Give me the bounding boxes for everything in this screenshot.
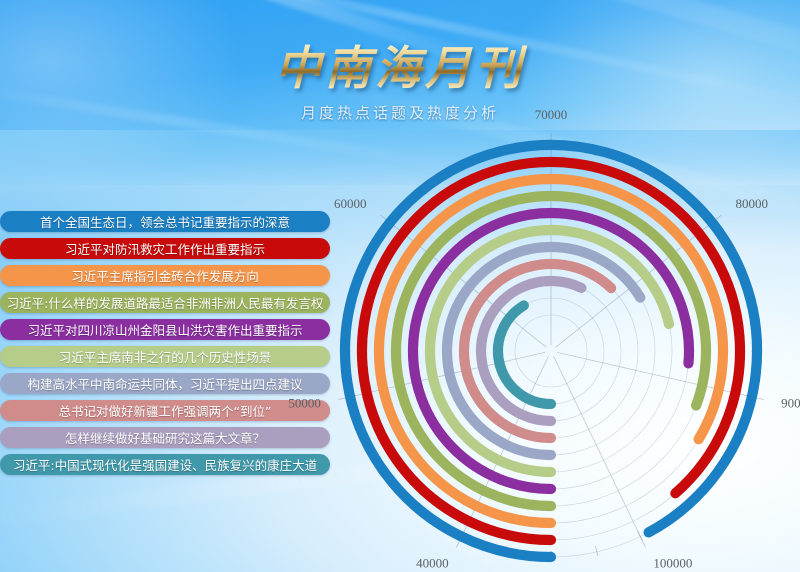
polar-minor-tick bbox=[596, 546, 598, 556]
poster-canvas: 中南海月刊 月度热点话题及热度分析 首个全国生态日，领会总书记重要指示的深意习近… bbox=[0, 0, 800, 572]
legend-item[interactable]: 习近平主席南非之行的几个历史性场景 bbox=[0, 346, 330, 367]
legend-item-label: 习近平:中国式现代化是强国建设、民族复兴的康庄大道 bbox=[13, 455, 317, 474]
legend-item-label: 习近平主席南非之行的几个历史性场景 bbox=[59, 347, 272, 366]
radial-bar-chart-svg: 400005000060000700008000090000100000 bbox=[286, 80, 800, 572]
legend-item-label: 习近平:什么样的发展道路最适合非洲非洲人民最有发言权 bbox=[7, 293, 324, 312]
legend-item[interactable]: 首个全国生态日，领会总书记重要指示的深意 bbox=[0, 211, 330, 232]
legend-item[interactable]: 习近平:什么样的发展道路最适合非洲非洲人民最有发言权 bbox=[0, 292, 330, 313]
legend-item-label: 习近平主席指引金砖合作发展方向 bbox=[71, 266, 259, 285]
angular-axis-tick-label: 50000 bbox=[288, 396, 321, 411]
legend-item[interactable]: 怎样继续做好基础研究这篇大文章？ bbox=[0, 427, 330, 448]
legend-item[interactable]: 习近平主席指引金砖合作发展方向 bbox=[0, 265, 330, 286]
legend-item-label: 首个全国生态日，领会总书记重要指示的深意 bbox=[40, 212, 290, 231]
legend-item[interactable]: 总书记对做好新疆工作强调两个“到位” bbox=[0, 400, 330, 421]
angular-axis-tick-label: 60000 bbox=[334, 196, 367, 211]
angular-axis-tick-label: 80000 bbox=[736, 196, 769, 211]
polar-grid-spoke bbox=[554, 356, 646, 547]
legend-item-label: 习近平对四川凉山州金阳县山洪灾害作出重要指示 bbox=[27, 320, 302, 339]
legend-item-label: 构建高水平中南命运共同体，习近平提出四点建议 bbox=[27, 374, 302, 393]
radial-bar-chart: 400005000060000700008000090000100000 bbox=[286, 80, 800, 572]
legend-item-label: 怎样继续做好基础研究这篇大文章？ bbox=[65, 428, 265, 447]
radial-bar[interactable] bbox=[498, 306, 551, 404]
legend-item[interactable]: 习近平对防汛救灾工作作出重要指示 bbox=[0, 238, 330, 259]
legend-item-label: 总书记对做好新疆工作强调两个“到位” bbox=[59, 401, 272, 420]
legend-item[interactable]: 习近平对四川凉山州金阳县山洪灾害作出重要指示 bbox=[0, 319, 330, 340]
legend-item-label: 习近平对防汛救灾工作作出重要指示 bbox=[65, 239, 265, 258]
angular-axis-tick-label: 40000 bbox=[416, 556, 449, 571]
angular-axis-tick-label: 100000 bbox=[653, 556, 692, 571]
legend-item[interactable]: 习近平:中国式现代化是强国建设、民族复兴的康庄大道 bbox=[0, 454, 330, 475]
angular-axis-tick-label: 90000 bbox=[781, 396, 800, 411]
legend-list: 首个全国生态日，领会总书记重要指示的深意习近平对防汛救灾工作作出重要指示习近平主… bbox=[0, 211, 330, 481]
legend-item[interactable]: 构建高水平中南命运共同体，习近平提出四点建议 bbox=[0, 373, 330, 394]
polar-minor-tick bbox=[638, 531, 642, 540]
angular-axis-tick-label: 70000 bbox=[535, 107, 568, 122]
